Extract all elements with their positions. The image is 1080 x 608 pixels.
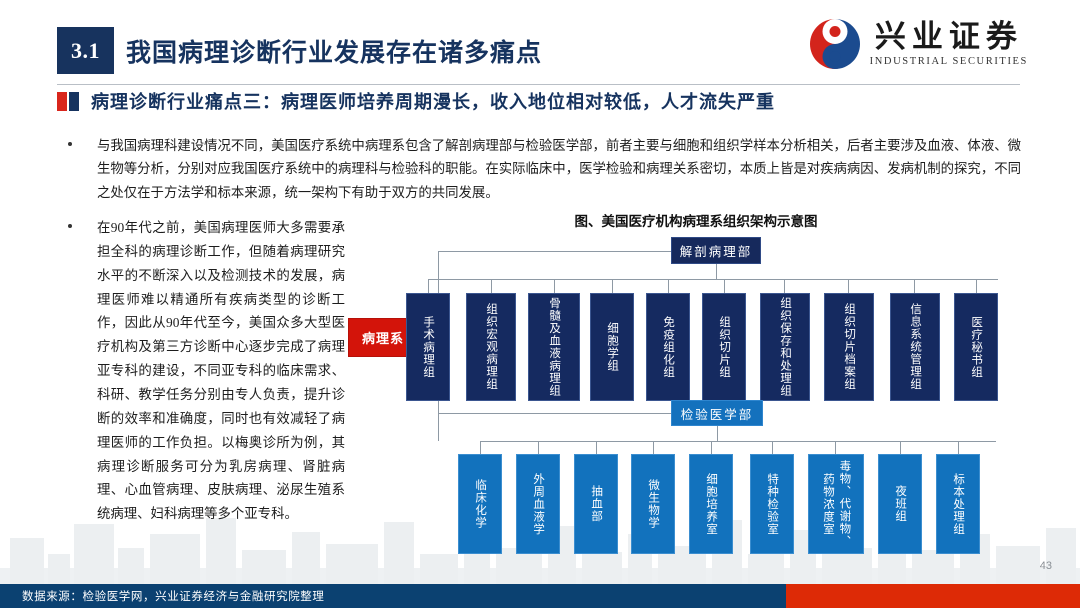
node-leaf-label: 医疗秘书组 [968, 316, 984, 379]
node-leaf-label: 手术病理组 [420, 316, 436, 379]
section-number-badge: 3.1 [57, 27, 114, 74]
node-leaf-label: 组织切片档案组 [841, 303, 857, 391]
footer-bar-red [786, 584, 1080, 608]
node-leaf-anatomic: 医疗秘书组 [954, 293, 998, 401]
page-title-bar: 3.1 我国病理诊断行业发展存在诸多痛点 [57, 27, 542, 74]
bullet-point-1 [68, 142, 72, 146]
node-leaf-label: 夜班组 [892, 485, 908, 523]
node-leaf-anatomic: 细胞学组 [590, 293, 634, 401]
node-leaf-label: 毒物、代谢物、药物浓度室 [820, 455, 853, 553]
company-logo: 兴业证券 INDUSTRIAL SECURITIES [809, 18, 1028, 70]
node-leaf-label: 细胞学组 [604, 322, 620, 372]
node-leaf-anatomic: 骨髓及血液病理组 [528, 293, 580, 401]
node-leaf-lab: 标本处理组 [936, 454, 980, 554]
subtitle-text: 病理诊断行业痛点三：病理医师培养周期漫长，收入地位相对较低，人才流失严重 [91, 88, 775, 114]
node-leaf-label: 标本处理组 [950, 473, 966, 536]
node-leaf-label: 组织切片组 [716, 316, 732, 379]
node-leaf-anatomic: 手术病理组 [406, 293, 450, 401]
node-leaf-label: 信息系统管理组 [907, 303, 923, 391]
marker-red-square [57, 92, 67, 111]
node-leaf-anatomic: 组织切片组 [702, 293, 746, 401]
node-leaf-lab: 临床化学 [458, 454, 502, 554]
paragraph-2: 在90年代之前，美国病理医师大多需要承担全科的病理诊断工作，但随着病理研究水平的… [97, 216, 345, 526]
node-leaf-lab: 细胞培养室 [689, 454, 733, 554]
node-root-label: 病理系 [362, 328, 404, 347]
node-leaf-label: 抽血部 [588, 485, 604, 523]
node-leaf-lab: 夜班组 [878, 454, 922, 554]
org-chart: 病理系 解剖病理部 手术病理组 组织宏观病理组 骨髓及血液病理组 细胞学组 免疫… [348, 233, 1048, 553]
title-divider [57, 84, 1020, 85]
node-leaf-anatomic: 信息系统管理组 [890, 293, 940, 401]
node-leaf-anatomic: 组织宏观病理组 [466, 293, 516, 401]
node-leaf-lab: 特种检验室 [750, 454, 794, 554]
node-leaf-lab: 毒物、代谢物、药物浓度室 [808, 454, 864, 554]
node-leaf-lab: 外周血液学 [516, 454, 560, 554]
node-leaf-anatomic: 组织保存和处理组 [760, 293, 810, 401]
node-leaf-lab: 微生物学 [631, 454, 675, 554]
node-leaf-label: 骨髓及血液病理组 [546, 297, 562, 397]
node-leaf-label: 微生物学 [645, 479, 661, 529]
bullet-point-2 [68, 224, 72, 228]
paragraph-1: 与我国病理科建设情况不同，美国医疗系统中病理系包含了解剖病理部与检验医学部，前者… [97, 134, 1021, 204]
diagram-title: 图、美国医疗机构病理系组织架构示意图 [372, 210, 1020, 230]
node-leaf-anatomic: 组织切片档案组 [824, 293, 874, 401]
node-dept-anatomic: 解剖病理部 [671, 237, 761, 264]
page-number: 43 [1040, 560, 1052, 572]
footer-source-text: 数据来源：检验医学网，兴业证券经济与金融研究院整理 [22, 588, 325, 604]
logo-english-name: INDUSTRIAL SECURITIES [870, 56, 1028, 67]
node-leaf-label: 特种检验室 [764, 473, 780, 536]
logo-chinese-name: 兴业证券 [875, 22, 1023, 53]
node-leaf-label: 临床化学 [472, 479, 488, 529]
node-dept-lab: 检验医学部 [671, 400, 763, 426]
logo-mark-icon [809, 18, 861, 70]
node-leaf-label: 组织保存和处理组 [777, 297, 793, 397]
node-leaf-label: 组织宏观病理组 [483, 303, 499, 391]
node-leaf-lab: 抽血部 [574, 454, 618, 554]
node-dept-lab-label: 检验医学部 [681, 404, 754, 423]
node-leaf-label: 免疫组化组 [660, 316, 676, 379]
node-dept-anatomic-label: 解剖病理部 [680, 241, 753, 260]
node-leaf-label: 细胞培养室 [703, 473, 719, 536]
node-leaf-anatomic: 免疫组化组 [646, 293, 690, 401]
node-leaf-label: 外周血液学 [530, 473, 546, 536]
subtitle-row: 病理诊断行业痛点三：病理医师培养周期漫长，收入地位相对较低，人才流失严重 [57, 88, 775, 114]
marker-blue-square [69, 92, 79, 111]
page-title: 我国病理诊断行业发展存在诸多痛点 [126, 27, 542, 74]
